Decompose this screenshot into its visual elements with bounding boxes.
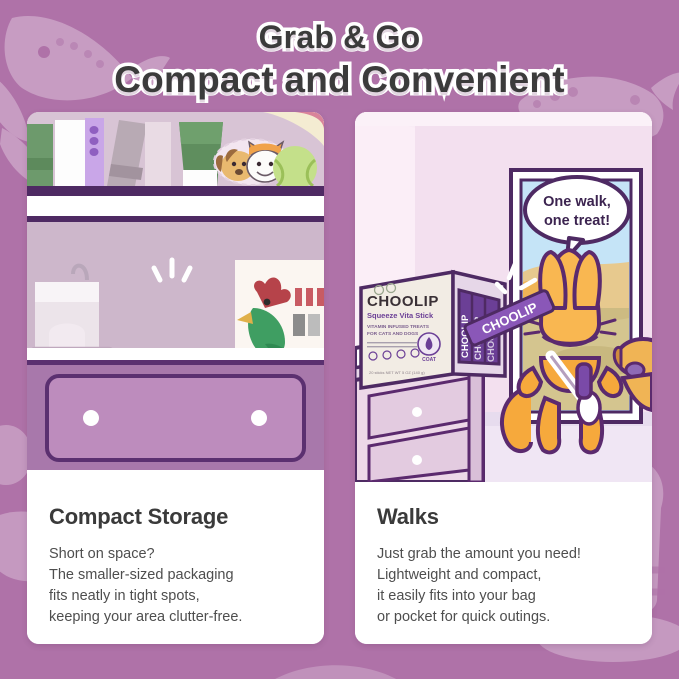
header: Grab & Go Compact and Convenient xyxy=(0,18,679,102)
card-illustration-fridge: CHOOLIP CHOOLIP CHOOLIP xyxy=(27,112,324,482)
svg-text:20 sticks NET WT 5 OZ (140 g): 20 sticks NET WT 5 OZ (140 g) xyxy=(369,370,425,375)
card-text-block-right: Walks Just grab the amount you need! Lig… xyxy=(355,482,652,644)
fish-pattern-bottom-center-icon xyxy=(250,645,430,679)
feature-card-compact-storage: CHOOLIP CHOOLIP CHOOLIP xyxy=(27,112,324,644)
card-description-walks: Just grab the amount you need! Lightweig… xyxy=(377,544,632,628)
feature-card-walks: One walk, one treat! xyxy=(355,112,652,644)
svg-text:COAT: COAT xyxy=(422,357,436,363)
card-title-compact-storage: Compact Storage xyxy=(49,504,304,530)
card-title-walks: Walks xyxy=(377,504,632,530)
svg-text:Squeeze Vita Stick: Squeeze Vita Stick xyxy=(367,311,434,320)
card-description-compact-storage: Short on space? The smaller-sized packag… xyxy=(49,544,304,628)
svg-text:FOR CATS AND DOGS: FOR CATS AND DOGS xyxy=(367,331,419,337)
svg-text:VITAMIN INFUSED TREATS: VITAMIN INFUSED TREATS xyxy=(367,324,430,330)
hallway-doorway-scene: One walk, one treat! xyxy=(355,112,652,482)
card-text-block-left: Compact Storage Short on space? The smal… xyxy=(27,482,324,644)
promo-graphic: Grab & Go Compact and Convenient xyxy=(0,0,679,679)
svg-text:one treat!: one treat! xyxy=(544,213,610,229)
svg-text:CHOOLIP: CHOOLIP xyxy=(367,293,439,310)
header-line-2: Compact and Convenient xyxy=(0,58,679,102)
header-line-1: Grab & Go xyxy=(0,18,679,56)
card-illustration-hallway: One walk, one treat! xyxy=(355,112,652,482)
cabinet-drawer xyxy=(27,348,324,482)
svg-text:One walk,: One walk, xyxy=(543,194,611,210)
